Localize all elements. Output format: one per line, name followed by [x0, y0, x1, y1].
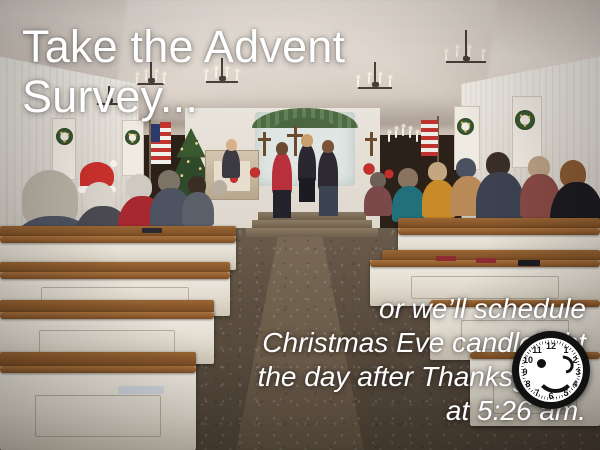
clock-number-7: 7 [530, 388, 544, 398]
preacher-head [226, 139, 237, 151]
poinsettia-left [247, 166, 263, 179]
altar-person-navy-head [322, 140, 334, 153]
altar-person-dark-head [301, 134, 313, 147]
wreath-left-2 [125, 130, 140, 145]
hymnal-1 [436, 256, 456, 261]
congregant-navy [476, 172, 524, 224]
chancel-step-3 [246, 228, 378, 237]
clock-eye-dot [537, 359, 546, 368]
preacher [222, 148, 240, 178]
altar-person-red-head [276, 142, 288, 155]
clock-number-10: 10 [521, 355, 535, 365]
bulletin [118, 386, 164, 394]
wreath-right-2 [515, 110, 535, 130]
second-flag [421, 120, 438, 156]
clock-number-9: 9 [518, 367, 532, 377]
hymnal-2 [476, 258, 496, 263]
congregant-head-r1 [398, 168, 418, 188]
chandelier-4 [352, 62, 398, 106]
wreath-right-1 [457, 118, 474, 135]
congregant-head-6 [212, 180, 227, 195]
congregant-teal [392, 186, 426, 222]
altar-person-red [272, 152, 292, 194]
chancel-step-2 [252, 220, 372, 228]
cross-right [365, 132, 377, 156]
window-left-2 [122, 120, 144, 176]
clock-number-11: 11 [530, 345, 544, 355]
chandelier-3 [440, 30, 492, 80]
congregant-head-hat [456, 158, 476, 178]
smiley-face-clock: 12 1 2 3 4 5 6 7 8 9 10 11 [512, 331, 590, 409]
congregant-body-5 [182, 192, 214, 226]
exit-sign [160, 122, 171, 128]
pew-left-4 [0, 366, 196, 450]
altar-person-dark-skirt [299, 178, 315, 202]
american-flag [151, 124, 171, 164]
congregant-head-r2 [428, 162, 447, 181]
clock-number-12: 12 [544, 341, 558, 351]
hymnal-4 [142, 228, 162, 233]
altar-person-dark [298, 144, 316, 182]
cross-left [258, 132, 271, 156]
headline-text: Take the Advent Survey... [22, 22, 345, 122]
altar-person-navy [318, 150, 338, 190]
clock-number-8: 8 [521, 379, 535, 389]
congregant-body-r5 [364, 186, 392, 216]
altar-person-red-skirt [273, 190, 291, 218]
altar-person-navy-skirt [319, 186, 338, 216]
clock-number-1: 1 [559, 345, 573, 355]
hymnal-3 [518, 260, 540, 266]
wreath-left-1 [56, 128, 73, 145]
clock-face: 12 1 2 3 4 5 6 7 8 9 10 11 [519, 338, 583, 402]
advent-survey-graphic: Take the Advent Survey... or we’ll sched… [0, 0, 600, 450]
altar-candelabra [386, 128, 420, 154]
